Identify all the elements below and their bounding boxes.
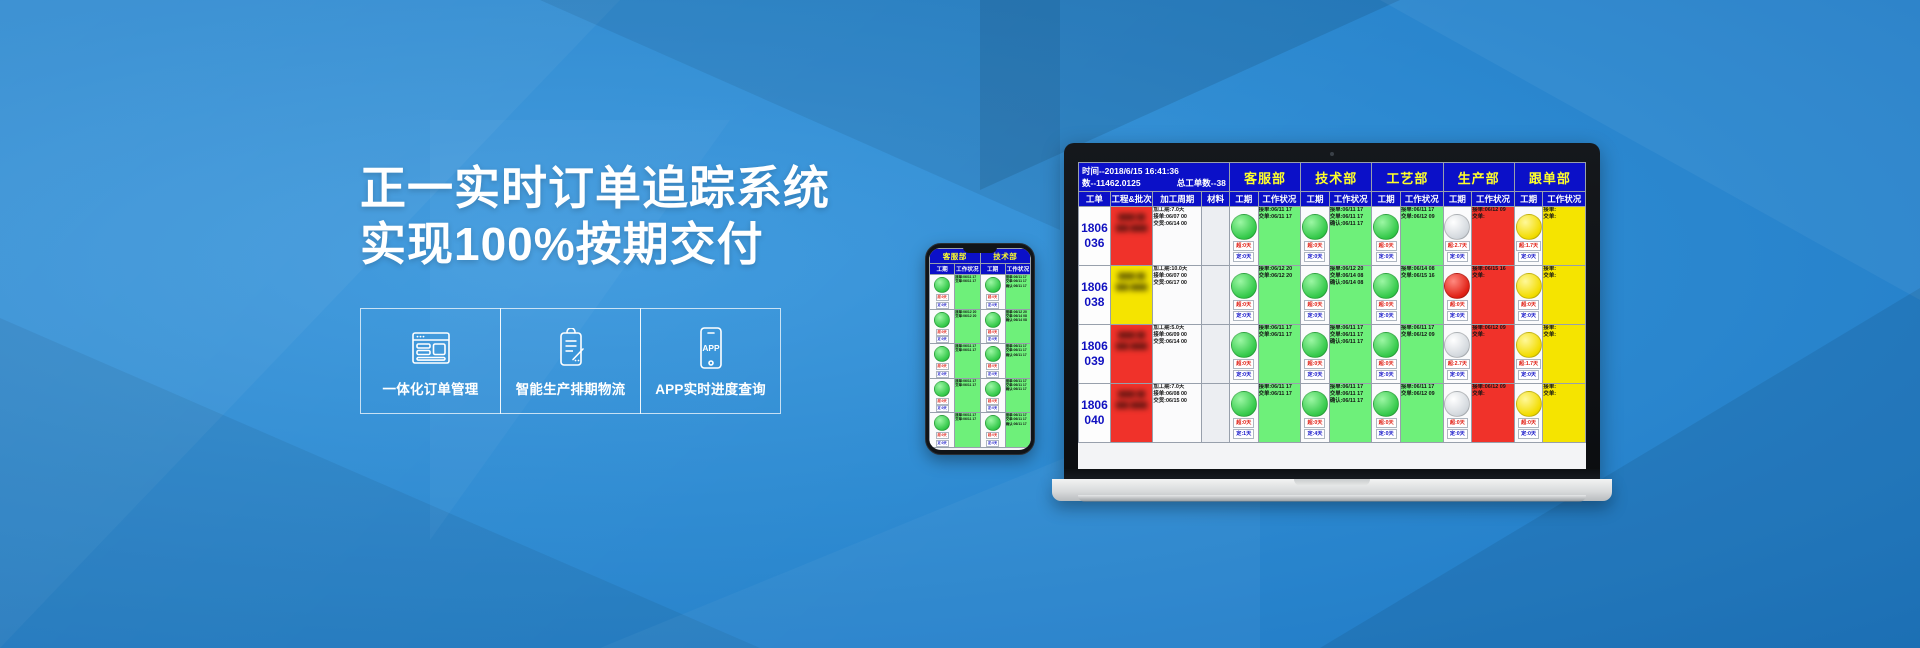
status-tags: 超:0天定:0天 (981, 294, 1005, 309)
work-status-line-1: 交单:06/11 17 (1330, 332, 1372, 339)
processing-cycle-cell[interactable]: 加工期:5.0天接单:06/09 00交货:06/14 00 (1153, 325, 1202, 384)
work-status-line-1: 交单:06/11 17 (955, 279, 979, 283)
overdue-tag: 超:0天 (1233, 359, 1254, 369)
column-header-2-0[interactable]: 工期 (1372, 192, 1401, 207)
status-cell-p3-1[interactable]: 超:0天定:0天 (980, 378, 1005, 413)
status-cell-2-1[interactable]: 超:0天定:0天 (1301, 325, 1330, 384)
scheduled-tag: 定:0天 (936, 405, 949, 412)
work-status-line-2: 确认:06/14 08 (1330, 280, 1372, 287)
overdue-tag: 超:0天 (936, 432, 949, 439)
material-cell[interactable] (1202, 384, 1230, 443)
work-status-line-2: 确认:06/11 17 (1330, 221, 1372, 228)
dashboard-count: 数--11462.0125 (1082, 177, 1141, 189)
overdue-tag: 超:0天 (1304, 359, 1325, 369)
phone-screen: 客服部技术部 工期工作状况工期工作状况 超:0天定:0天接单:06/11 17交… (929, 248, 1031, 450)
column-header-base-1[interactable]: 工程&批次 (1110, 192, 1153, 207)
status-cell-0-1[interactable]: 超:0天定:0天 (1301, 207, 1330, 266)
column-header-0-1[interactable]: 工作状况 (1258, 192, 1301, 207)
scheduled-tag: 定:0天 (1304, 252, 1325, 262)
cycle-period: 加工期:10.0天 (1153, 266, 1201, 273)
status-indicator-green (1231, 273, 1257, 299)
status-tags: 超:0天定:0天 (1301, 300, 1329, 321)
status-indicator-green (934, 312, 950, 328)
project-batch-redacted: ████ ██ ███ ████ (1111, 207, 1153, 235)
scheduled-tag: 定:0天 (986, 371, 999, 378)
status-tags: 超:0天定:0天 (1372, 359, 1400, 380)
department-header-0[interactable]: 客服部 (1229, 163, 1300, 192)
status-tags: 超:1.7天定:0天 (1515, 241, 1543, 262)
work-status-cell-0-2[interactable]: 接单:06/11 17交单:06/12 09 (1401, 207, 1444, 266)
work-status-line-1: 交单: (1472, 391, 1514, 398)
overdue-tag: 超:0天 (986, 398, 999, 405)
status-indicator-green (985, 277, 1001, 293)
work-status-cell-p1-1[interactable]: 接单:06/12 20交单:06/14 08确认:06/14 08 (1005, 309, 1030, 344)
work-status-line-0: 接单:06/12 09 (1472, 325, 1514, 332)
work-status-line-0: 接单: (1543, 384, 1585, 391)
order-tracking-table[interactable]: 时间--2018/6/15 16:41:36数--11462.0125总工单数-… (1078, 162, 1586, 443)
phone-column-header-1-1[interactable]: 工作状况 (1005, 264, 1030, 275)
work-status-line-2: 确认:06/14 08 (1006, 318, 1030, 322)
work-status-cell-2-0[interactable]: 接单:06/11 17交单:06/11 17 (1258, 325, 1301, 384)
feature-box-order-management[interactable]: 一体化订单管理 (360, 308, 501, 414)
work-order-cell[interactable]: 1806038 (1079, 266, 1111, 325)
work-status-line-1: 交单:06/14 08 (1330, 273, 1372, 280)
status-tags: 超:0天定:0天 (1515, 300, 1543, 321)
status-tags: 超:0天定:0天 (1515, 418, 1543, 439)
column-header-1-0[interactable]: 工期 (1301, 192, 1330, 207)
scheduled-tag: 定:0天 (936, 440, 949, 447)
status-tags: 超:0天定:0天 (981, 432, 1005, 447)
scheduled-tag: 定:0天 (986, 336, 999, 343)
work-status-cell-p4-1[interactable]: 接单:06/11 17交单:06/11 17确认:06/11 17 (1005, 413, 1030, 448)
overdue-tag: 超:0天 (936, 363, 949, 370)
phone-subheader-row: 工期工作状况工期工作状况 (930, 264, 1031, 275)
material-cell[interactable] (1202, 325, 1230, 384)
status-tags: 超:2.7天定:0天 (1444, 359, 1472, 380)
scheduled-tag: 定:0天 (1518, 429, 1539, 439)
work-status-cell-0-0[interactable]: 接单:06/11 17交单:06/11 17 (1258, 207, 1301, 266)
status-indicator-green (985, 346, 1001, 362)
scheduled-tag: 定:1天 (1233, 429, 1254, 439)
status-indicator-green (1302, 332, 1328, 358)
status-cell-2-2[interactable]: 超:0天定:0天 (1372, 325, 1401, 384)
status-cell-p2-0[interactable]: 超:0天定:0天 (930, 344, 955, 379)
status-tags: 超:0天定:0天 (1372, 300, 1400, 321)
work-status-cell-p0-0[interactable]: 接单:06/11 17交单:06/11 17 (955, 275, 980, 310)
work-status-cell-2-4[interactable]: 接单:交单: (1543, 325, 1586, 384)
browser-window-icon (411, 324, 451, 372)
scheduled-tag: 定:0天 (1376, 252, 1397, 262)
phone-table-row[interactable]: 超:0天定:0天接单:06/11 17交单:06/11 17超:0天定:0天接单… (930, 344, 1031, 379)
work-status-cell-p4-0[interactable]: 接单:06/11 17交单:06/11 17 (955, 413, 980, 448)
overdue-tag: 超:0天 (1376, 300, 1397, 310)
status-tags: 超:0天定:0天 (981, 363, 1005, 378)
work-status-line-0: 接单:06/11 17 (1330, 384, 1372, 391)
work-status-line-0: 接单: (1543, 266, 1585, 273)
work-status-line-1: 交单:06/11 17 (955, 417, 979, 421)
scheduled-tag: 定:0天 (1376, 370, 1397, 380)
status-tags: 超:0天定:0天 (930, 432, 954, 447)
work-status-line-0: 接单:06/11 17 (1401, 325, 1443, 332)
status-cell-p1-1[interactable]: 超:0天定:0天 (980, 309, 1005, 344)
status-cell-0-3[interactable]: 超:2.7天定:0天 (1443, 207, 1472, 266)
work-status-cell-p0-1[interactable]: 接单:06/11 17交单:06/11 17确认:06/11 17 (1005, 275, 1030, 310)
project-batch-cell[interactable]: ████ ██ ███ ████ (1110, 384, 1153, 443)
work-order-part-1: 040 (1079, 413, 1110, 428)
clipboard-checklist-icon (553, 324, 589, 372)
work-order-part-1: 039 (1079, 354, 1110, 369)
status-tags: 超:0天定:0天 (1444, 418, 1472, 439)
overdue-tag: 超:0天 (986, 432, 999, 439)
status-cell-1-3[interactable]: 超:0天定:0天 (1443, 266, 1472, 325)
work-status-cell-1-4[interactable]: 接单:交单: (1543, 266, 1586, 325)
column-header-1-1[interactable]: 工作状况 (1329, 192, 1372, 207)
overdue-tag: 超:0天 (1304, 300, 1325, 310)
feature-label: 一体化订单管理 (383, 378, 479, 398)
overdue-tag: 超:0天 (1376, 359, 1397, 369)
status-indicator-gray (1444, 332, 1470, 358)
status-indicator-gray (1444, 214, 1470, 240)
status-indicator-yellow (1516, 214, 1542, 240)
work-status-line-2: 确认:06/11 17 (1006, 284, 1030, 288)
work-order-cell[interactable]: 1806036 (1079, 207, 1111, 266)
overdue-tag: 超:0天 (1233, 300, 1254, 310)
work-order-part-1: 038 (1079, 295, 1110, 310)
processing-cycle-cell[interactable]: 加工期:10.0天接单:06/07 00交货:06/17 00 (1153, 266, 1202, 325)
work-status-cell-p3-0[interactable]: 接单:06/11 17交单:06/11 17 (955, 378, 980, 413)
scheduled-tag: 定:0天 (1233, 311, 1254, 321)
phone-column-header-1-0[interactable]: 工期 (980, 264, 1005, 275)
status-indicator-green (1373, 391, 1399, 417)
app-badge-text: APP (702, 343, 720, 353)
overdue-tag: 超:1.7天 (1516, 359, 1541, 369)
work-status-cell-0-1[interactable]: 接单:06/11 17交单:06/11 17确认:06/11 17 (1329, 207, 1372, 266)
work-status-cell-3-2[interactable]: 接单:06/11 17交单:06/12 09 (1401, 384, 1444, 443)
work-status-line-0: 接单:06/11 17 (1259, 207, 1301, 214)
dashboard-count-row: 数--11462.0125总工单数--38 (1082, 177, 1226, 189)
scheduled-tag: 定:0天 (1447, 311, 1468, 321)
work-status-cell-2-3[interactable]: 接单:06/12 09交单: (1472, 325, 1515, 384)
status-cell-1-4[interactable]: 超:0天定:0天 (1514, 266, 1543, 325)
cycle-delivery: 交货:06/14 00 (1153, 339, 1201, 346)
status-cell-1-1[interactable]: 超:0天定:0天 (1301, 266, 1330, 325)
cycle-delivery: 交货:06/17 00 (1153, 280, 1201, 287)
dashboard-total-orders: 总工单数--38 (1177, 177, 1226, 189)
banner-stage: 正一实时订单追踪系统 实现100%按期交付 (0, 0, 1920, 648)
status-indicator-green (934, 381, 950, 397)
scheduled-tag: 定:0天 (936, 371, 949, 378)
project-batch-redacted: ████ ██ ███ ████ (1111, 325, 1153, 353)
column-header-2-1[interactable]: 工作状况 (1401, 192, 1444, 207)
work-status-line-0: 接单:06/11 17 (1401, 384, 1443, 391)
project-batch-cell[interactable]: ████ ██ ███ ████ (1110, 207, 1153, 266)
cycle-received: 接单:06/07 00 (1153, 273, 1201, 280)
status-tags: 超:1.7天定:0天 (1515, 359, 1543, 380)
column-header-0-0[interactable]: 工期 (1229, 192, 1258, 207)
status-cell-1-2[interactable]: 超:0天定:0天 (1372, 266, 1401, 325)
overdue-tag: 超:0天 (1233, 241, 1254, 251)
phone-table-row[interactable]: 超:0天定:0天接单:06/12 20交单:06/12 20超:0天定:0天接单… (930, 309, 1031, 344)
work-status-line-1: 交单:06/12 20 (1259, 273, 1301, 280)
feature-box-group: 一体化订单管理 智能生产排期物流 (360, 308, 920, 414)
status-cell-p0-1[interactable]: 超:0天定:0天 (980, 275, 1005, 310)
status-cell-0-2[interactable]: 超:0天定:0天 (1372, 207, 1401, 266)
work-status-cell-3-4[interactable]: 接单:交单: (1543, 384, 1586, 443)
work-status-line-0: 接单:06/12 09 (1472, 207, 1514, 214)
work-status-line-1: 交单:06/12 09 (1401, 214, 1443, 221)
status-indicator-green (985, 415, 1001, 431)
status-indicator-green (934, 346, 950, 362)
scheduled-tag: 定:0天 (936, 302, 949, 309)
work-status-line-1: 交单: (1543, 273, 1585, 280)
work-order-part-0: 1806 (1079, 398, 1110, 413)
column-header-base-3[interactable]: 材料 (1202, 192, 1230, 207)
overdue-tag: 超:0天 (1376, 241, 1397, 251)
work-status-cell-p1-0[interactable]: 接单:06/12 20交单:06/12 20 (955, 309, 980, 344)
overdue-tag: 超:0天 (1376, 418, 1397, 428)
status-indicator-yellow (1516, 273, 1542, 299)
overdue-tag: 超:0天 (1447, 418, 1468, 428)
overdue-tag: 超:0天 (936, 329, 949, 336)
feature-label: APP实时进度查询 (655, 378, 766, 398)
phone-column-header-0-1[interactable]: 工作状况 (955, 264, 980, 275)
status-tags: 超:0天定:0天 (1372, 418, 1400, 439)
column-header-base-2[interactable]: 加工周期 (1153, 192, 1202, 207)
work-status-cell-2-2[interactable]: 接单:06/11 17交单:06/12 09 (1401, 325, 1444, 384)
work-status-line-1: 交单:06/15 16 (1401, 273, 1443, 280)
status-indicator-green (1302, 273, 1328, 299)
work-status-line-0: 接单:06/11 17 (1401, 207, 1443, 214)
work-status-cell-1-3[interactable]: 接单:06/15 16交单: (1472, 266, 1515, 325)
work-status-line-1: 交单:06/11 17 (1259, 332, 1301, 339)
department-header-4[interactable]: 跟单部 (1514, 163, 1585, 192)
status-indicator-green (1231, 391, 1257, 417)
material-cell[interactable] (1202, 266, 1230, 325)
cycle-received: 接单:06/07 00 (1153, 214, 1201, 221)
status-tags: 超:0天定:0天 (1301, 359, 1329, 380)
scheduled-tag: 定:0天 (986, 302, 999, 309)
phone-column-header-0-0[interactable]: 工期 (930, 264, 955, 275)
project-batch-redacted: ████ ██ ███ ████ (1111, 266, 1153, 294)
status-tags: 超:0天定:0天 (930, 363, 954, 378)
status-tags: 超:0天定:0天 (981, 329, 1005, 344)
work-status-line-1: 交单:06/12 09 (1401, 332, 1443, 339)
feature-box-app-progress[interactable]: APP APP实时进度查询 (640, 308, 781, 414)
status-tags: 超:0天定:0天 (1444, 300, 1472, 321)
status-tags: 超:2.7天定:0天 (1444, 241, 1472, 262)
overdue-tag: 超:0天 (936, 294, 949, 301)
scheduled-tag: 定:4天 (1304, 429, 1325, 439)
work-status-line-0: 接单: (1543, 325, 1585, 332)
status-cell-p2-1[interactable]: 超:0天定:0天 (980, 344, 1005, 379)
status-cell-p4-0[interactable]: 超:0天定:0天 (930, 413, 955, 448)
status-cell-2-3[interactable]: 超:2.7天定:0天 (1443, 325, 1472, 384)
department-header-1[interactable]: 技术部 (1301, 163, 1372, 192)
cycle-delivery: 交货:06/14 00 (1153, 221, 1201, 228)
work-status-cell-p3-1[interactable]: 接单:06/11 17交单:06/11 17确认:06/11 17 (1005, 378, 1030, 413)
status-indicator-green (985, 312, 1001, 328)
status-cell-p3-0[interactable]: 超:0天定:0天 (930, 378, 955, 413)
status-tags: 超:0天定:0天 (981, 398, 1005, 413)
overdue-tag: 超:0天 (1518, 300, 1539, 310)
status-cell-2-4[interactable]: 超:1.7天定:0天 (1514, 325, 1543, 384)
mobile-app-icon: APP (696, 324, 726, 372)
work-status-cell-0-4[interactable]: 接单:交单: (1543, 207, 1586, 266)
department-header-2[interactable]: 工艺部 (1372, 163, 1443, 192)
work-status-line-0: 接单:06/11 17 (1330, 325, 1372, 332)
status-cell-3-3[interactable]: 超:0天定:0天 (1443, 384, 1472, 443)
dashboard-subheader-row: 工单工程&批次加工周期材料工期工作状况工期工作状况工期工作状况工期工作状况工期工… (1079, 192, 1586, 207)
order-table-body: 1806036████ ██ ███ ████加工期:7.0天接单:06/07 … (1079, 207, 1586, 443)
status-indicator-green (1302, 391, 1328, 417)
overdue-tag: 超:2.7天 (1445, 241, 1470, 251)
scheduled-tag: 定:0天 (936, 336, 949, 343)
scheduled-tag: 定:0天 (1447, 370, 1468, 380)
work-status-line-1: 交单:06/11 17 (955, 383, 979, 387)
headline-line-2: 实现100%按期交付 (360, 216, 920, 272)
column-header-3-0[interactable]: 工期 (1443, 192, 1472, 207)
work-status-line-1: 交单: (1543, 332, 1585, 339)
project-batch-cell[interactable]: ████ ██ ███ ████ (1110, 325, 1153, 384)
phone-notch (963, 246, 997, 253)
processing-cycle-cell[interactable]: 加工期:7.0天接单:06/08 00交货:06/15 00 (1153, 384, 1202, 443)
laptop-mockup: 时间--2018/6/15 16:41:36数--11462.0125总工单数-… (1052, 143, 1612, 523)
scheduled-tag: 定:0天 (1376, 429, 1397, 439)
work-status-line-1: 交单:06/11 17 (955, 348, 979, 352)
phone-dashboard-table[interactable]: 客服部技术部 工期工作状况工期工作状况 超:0天定:0天接单:06/11 17交… (929, 248, 1031, 448)
work-status-cell-p2-1[interactable]: 接单:06/11 17交单:06/11 17确认:06/11 17 (1005, 344, 1030, 379)
column-header-4-0[interactable]: 工期 (1514, 192, 1543, 207)
overdue-tag: 超:1.7天 (1516, 241, 1541, 251)
scheduled-tag: 定:0天 (986, 405, 999, 412)
work-status-cell-3-0[interactable]: 接单:06/11 17交单:06/11 17 (1258, 384, 1301, 443)
project-batch-redacted: ████ ██ ███ ████ (1111, 384, 1153, 412)
overdue-tag: 超:0天 (1233, 418, 1254, 428)
headline-line-1: 正一实时订单追踪系统 (360, 160, 920, 216)
work-order-cell[interactable]: 1806039 (1079, 325, 1111, 384)
cycle-period: 加工期:5.0天 (1153, 325, 1201, 332)
work-status-cell-p2-0[interactable]: 接单:06/11 17交单:06/11 17 (955, 344, 980, 379)
cycle-received: 接单:06/08 00 (1153, 391, 1201, 398)
status-tags: 超:0天定:0天 (930, 329, 954, 344)
status-cell-0-0[interactable]: 超:0天定:0天 (1229, 207, 1258, 266)
work-status-cell-1-1[interactable]: 接单:06/12 20交单:06/14 08确认:06/14 08 (1329, 266, 1372, 325)
work-status-line-0: 接单:06/11 17 (1259, 325, 1301, 332)
scheduled-tag: 定:0天 (1304, 311, 1325, 321)
work-status-cell-1-0[interactable]: 接单:06/12 20交单:06/12 20 (1258, 266, 1301, 325)
work-status-line-0: 接单:06/14 08 (1401, 266, 1443, 273)
dashboard-timestamp: 时间--2018/6/15 16:41:36 (1082, 165, 1226, 177)
status-indicator-gray (1444, 391, 1470, 417)
work-status-line-1: 交单: (1543, 391, 1585, 398)
status-cell-p0-0[interactable]: 超:0天定:0天 (930, 275, 955, 310)
work-order-cell[interactable]: 1806040 (1079, 384, 1111, 443)
cycle-received: 接单:06/09 00 (1153, 332, 1201, 339)
feature-box-production-scheduling[interactable]: 智能生产排期物流 (500, 308, 641, 414)
status-indicator-green (1373, 214, 1399, 240)
phone-table-body: 超:0天定:0天接单:06/11 17交单:06/11 17超:0天定:0天接单… (930, 275, 1031, 448)
status-cell-0-4[interactable]: 超:1.7天定:0天 (1514, 207, 1543, 266)
table-row[interactable]: 1806038████ ██ ███ ████加工期:10.0天接单:06/07… (1079, 266, 1586, 325)
overdue-tag: 超:0天 (1518, 418, 1539, 428)
work-status-line-1: 交单:06/11 17 (1330, 391, 1372, 398)
status-indicator-green (1231, 214, 1257, 240)
work-status-cell-2-1[interactable]: 接单:06/11 17交单:06/11 17确认:06/11 17 (1329, 325, 1372, 384)
feature-label: 智能生产排期物流 (516, 378, 626, 398)
work-status-cell-1-2[interactable]: 接单:06/14 08交单:06/15 16 (1401, 266, 1444, 325)
processing-cycle-cell[interactable]: 加工期:7.0天接单:06/07 00交货:06/14 00 (1153, 207, 1202, 266)
status-cell-2-0[interactable]: 超:0天定:0天 (1229, 325, 1258, 384)
work-status-line-2: 确认:06/11 17 (1006, 422, 1030, 426)
column-header-3-1[interactable]: 工作状况 (1472, 192, 1515, 207)
status-tags: 超:0天定:1天 (1230, 418, 1258, 439)
material-cell[interactable] (1202, 207, 1230, 266)
overdue-tag: 超:0天 (986, 294, 999, 301)
work-status-line-1: 交单: (1472, 273, 1514, 280)
status-tags: 超:0天定:0天 (930, 398, 954, 413)
status-indicator-green (1231, 332, 1257, 358)
status-indicator-red (1444, 273, 1470, 299)
scheduled-tag: 定:0天 (1518, 311, 1539, 321)
phone-table-row[interactable]: 超:0天定:0天接单:06/11 17交单:06/11 17超:0天定:0天接单… (930, 275, 1031, 310)
status-cell-3-0[interactable]: 超:0天定:1天 (1229, 384, 1258, 443)
work-status-line-2: 确认:06/11 17 (1330, 398, 1372, 405)
dashboard-info-and-dept-row: 时间--2018/6/15 16:41:36数--11462.0125总工单数-… (1079, 163, 1586, 192)
work-status-line-1: 交单:06/12 09 (1401, 391, 1443, 398)
status-cell-p1-0[interactable]: 超:0天定:0天 (930, 309, 955, 344)
status-cell-3-4[interactable]: 超:0天定:0天 (1514, 384, 1543, 443)
status-indicator-yellow (1516, 391, 1542, 417)
work-order-part-0: 1806 (1079, 339, 1110, 354)
status-tags: 超:0天定:0天 (1230, 241, 1258, 262)
table-row[interactable]: 1806039████ ██ ███ ████加工期:5.0天接单:06/09 … (1079, 325, 1586, 384)
overdue-tag: 超:0天 (1304, 418, 1325, 428)
status-indicator-green (934, 415, 950, 431)
status-cell-p4-1[interactable]: 超:0天定:0天 (980, 413, 1005, 448)
column-header-base-0[interactable]: 工单 (1079, 192, 1111, 207)
department-header-3[interactable]: 生产部 (1443, 163, 1514, 192)
work-order-part-0: 1806 (1079, 221, 1110, 236)
table-row[interactable]: 1806040████ ██ ███ ████加工期:7.0天接单:06/08 … (1079, 384, 1586, 443)
cycle-period: 加工期:7.0天 (1153, 384, 1201, 391)
work-status-cell-0-3[interactable]: 接单:06/12 09交单: (1472, 207, 1515, 266)
work-status-line-1: 交单: (1543, 214, 1585, 221)
status-tags: 超:0天定:0天 (1301, 241, 1329, 262)
webcam-icon (1330, 152, 1334, 156)
table-row[interactable]: 1806036████ ██ ███ ████加工期:7.0天接单:06/07 … (1079, 207, 1586, 266)
work-status-line-0: 接单:06/11 17 (1259, 384, 1301, 391)
overdue-tag: 超:0天 (936, 398, 949, 405)
status-indicator-green (1373, 332, 1399, 358)
scheduled-tag: 定:0天 (1304, 370, 1325, 380)
project-batch-cell[interactable]: ████ ██ ███ ████ (1110, 266, 1153, 325)
work-status-cell-3-1[interactable]: 接单:06/11 17交单:06/11 17确认:06/11 17 (1329, 384, 1372, 443)
status-cell-3-1[interactable]: 超:0天定:4天 (1301, 384, 1330, 443)
cycle-delivery: 交货:06/15 00 (1153, 398, 1201, 405)
overdue-tag: 超:0天 (1304, 241, 1325, 251)
column-header-4-1[interactable]: 工作状况 (1543, 192, 1586, 207)
work-status-line-1: 交单: (1472, 214, 1514, 221)
status-tags: 超:0天定:4天 (1301, 418, 1329, 439)
status-cell-1-0[interactable]: 超:0天定:0天 (1229, 266, 1258, 325)
status-cell-3-2[interactable]: 超:0天定:0天 (1372, 384, 1401, 443)
work-status-line-1: 交单:06/12 20 (955, 314, 979, 318)
phone-table-row[interactable]: 超:0天定:0天接单:06/11 17交单:06/11 17超:0天定:0天接单… (930, 413, 1031, 448)
work-status-line-1: 交单:06/11 17 (1330, 214, 1372, 221)
work-status-line-0: 接单:06/12 20 (1259, 266, 1301, 273)
phone-table-row[interactable]: 超:0天定:0天接单:06/11 17交单:06/11 17超:0天定:0天接单… (930, 378, 1031, 413)
work-status-cell-3-3[interactable]: 接单:06/12 09交单: (1472, 384, 1515, 443)
